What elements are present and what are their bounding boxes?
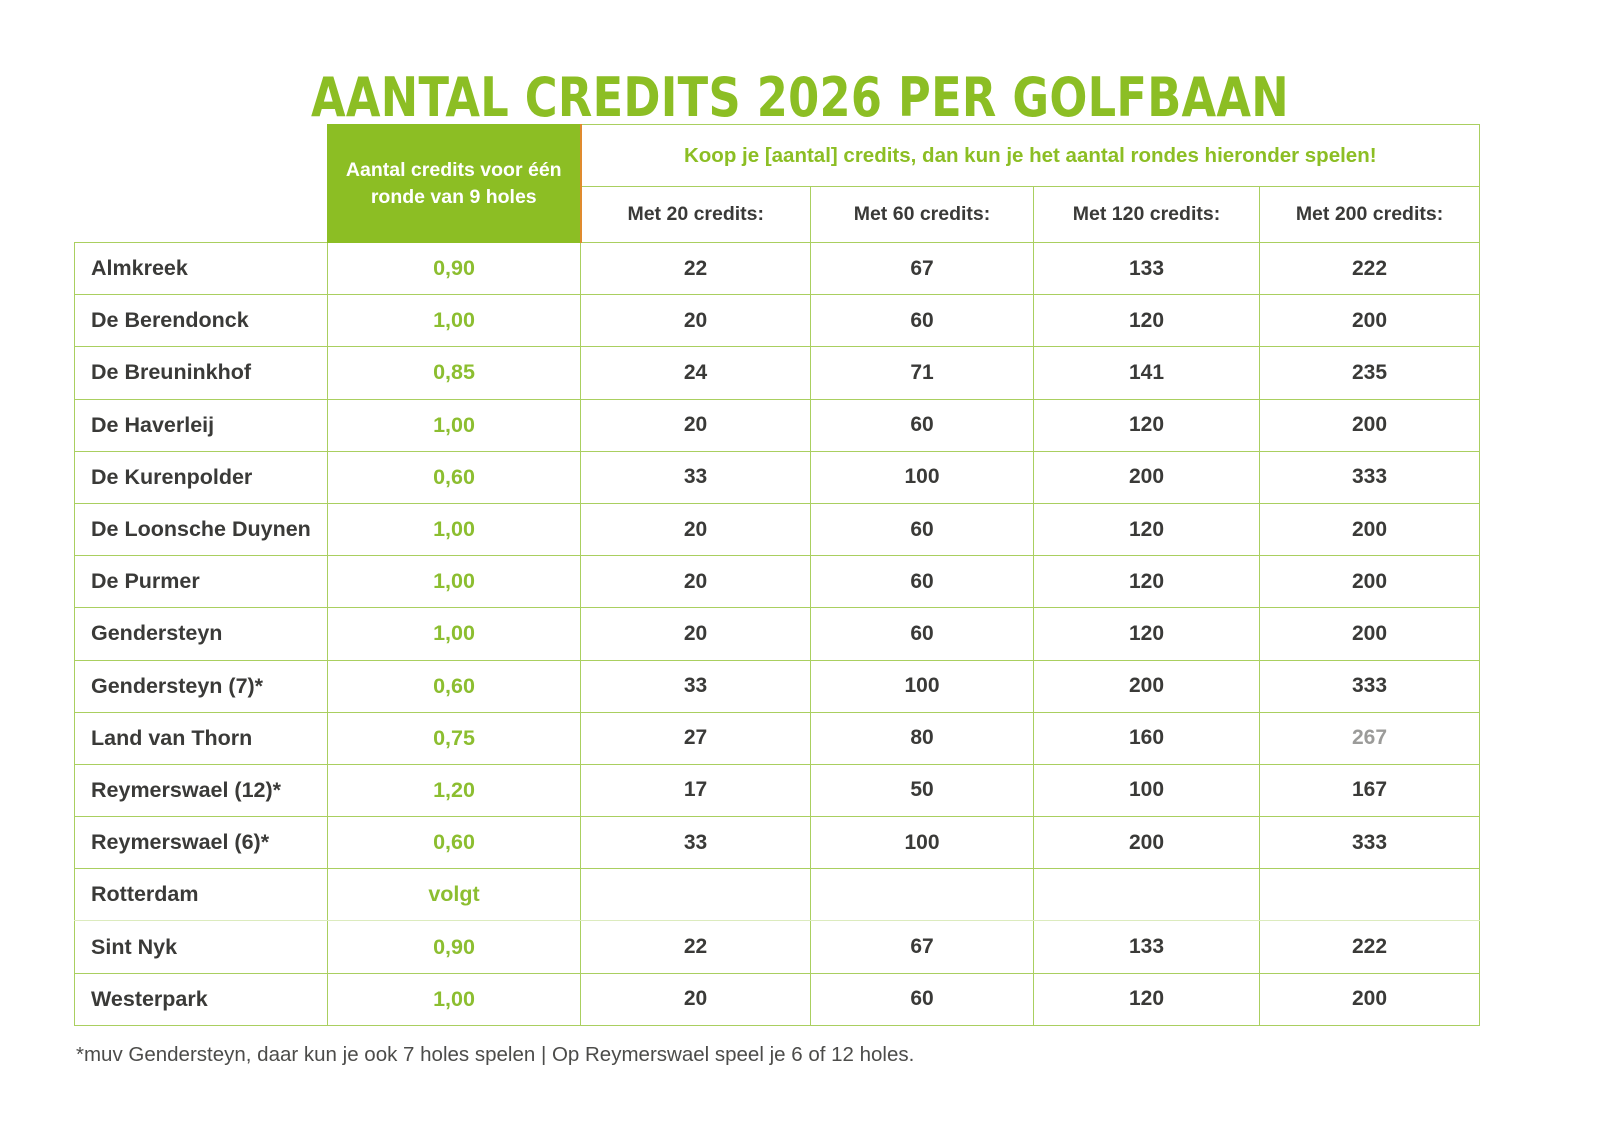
rounds-met-20-cell: 20 <box>581 556 811 608</box>
header-col-met-120: Met 120 credits: <box>1034 187 1260 243</box>
credits-table: Aantal credits voor één ronde van 9 hole… <box>74 124 1480 1026</box>
rounds-met-200-cell <box>1260 869 1480 921</box>
rounds-met-200-cell: 200 <box>1260 608 1480 660</box>
rounds-met-20-cell: 20 <box>581 399 811 451</box>
table-row: Reymerswael (12)*1,201750100167 <box>75 764 1480 816</box>
course-name-cell: De Loonsche Duynen <box>75 503 328 555</box>
rounds-met-60-cell: 60 <box>811 608 1034 660</box>
credits-per-round-cell: 1,20 <box>328 764 581 816</box>
rounds-met-20-cell: 17 <box>581 764 811 816</box>
credits-per-round-cell: volgt <box>328 869 581 921</box>
rounds-met-200-cell: 167 <box>1260 764 1480 816</box>
table-row: Reymerswael (6)*0,6033100200333 <box>75 817 1480 869</box>
course-name-cell: Gendersteyn (7)* <box>75 660 328 712</box>
rounds-met-120-cell: 133 <box>1034 243 1260 295</box>
rounds-met-20-cell: 22 <box>581 921 811 973</box>
header-span-label: Koop je [aantal] credits, dan kun je het… <box>581 125 1480 187</box>
rounds-met-120-cell: 200 <box>1034 817 1260 869</box>
rounds-met-60-cell: 80 <box>811 712 1034 764</box>
table-row: Sint Nyk0,902267133222 <box>75 921 1480 973</box>
rounds-met-120-cell: 120 <box>1034 503 1260 555</box>
rounds-met-120-cell: 120 <box>1034 556 1260 608</box>
rounds-met-20-cell: 22 <box>581 243 811 295</box>
rounds-met-200-cell: 200 <box>1260 295 1480 347</box>
credits-per-round-cell: 0,60 <box>328 660 581 712</box>
rounds-met-200-cell: 267 <box>1260 712 1480 764</box>
rounds-met-200-cell: 200 <box>1260 503 1480 555</box>
rounds-met-200-cell: 200 <box>1260 556 1480 608</box>
credits-per-round-cell: 1,00 <box>328 608 581 660</box>
course-name-cell: De Purmer <box>75 556 328 608</box>
rounds-met-20-cell: 33 <box>581 660 811 712</box>
table-header: Aantal credits voor één ronde van 9 hole… <box>75 125 1480 243</box>
rounds-met-120-cell: 141 <box>1034 347 1260 399</box>
rounds-met-60-cell: 100 <box>811 817 1034 869</box>
credits-per-round-cell: 1,00 <box>328 399 581 451</box>
header-corner-blank <box>75 125 328 243</box>
rounds-met-60-cell <box>811 869 1034 921</box>
course-name-cell: Westerpark <box>75 973 328 1025</box>
rounds-met-200-cell: 333 <box>1260 817 1480 869</box>
rounds-met-60-cell: 60 <box>811 503 1034 555</box>
course-name-cell: Reymerswael (12)* <box>75 764 328 816</box>
credits-per-round-cell: 0,90 <box>328 243 581 295</box>
table-row: Westerpark1,002060120200 <box>75 973 1480 1025</box>
credits-per-round-cell: 1,00 <box>328 973 581 1025</box>
course-name-cell: De Berendonck <box>75 295 328 347</box>
rounds-met-60-cell: 50 <box>811 764 1034 816</box>
rounds-met-120-cell: 120 <box>1034 399 1260 451</box>
table-row: De Haverleij1,002060120200 <box>75 399 1480 451</box>
rounds-met-60-cell: 71 <box>811 347 1034 399</box>
credits-per-round-cell: 1,00 <box>328 556 581 608</box>
rounds-met-120-cell: 120 <box>1034 973 1260 1025</box>
credits-per-round-cell: 1,00 <box>328 295 581 347</box>
rounds-met-200-cell: 222 <box>1260 921 1480 973</box>
rounds-met-20-cell: 20 <box>581 503 811 555</box>
rounds-met-200-cell: 200 <box>1260 399 1480 451</box>
rounds-met-120-cell: 133 <box>1034 921 1260 973</box>
header-col-met-60: Met 60 credits: <box>811 187 1034 243</box>
table-row: De Berendonck1,002060120200 <box>75 295 1480 347</box>
table-body: Almkreek0,902267133222De Berendonck1,002… <box>75 243 1480 1026</box>
credits-per-round-cell: 0,90 <box>328 921 581 973</box>
credits-per-round-cell: 1,00 <box>328 503 581 555</box>
course-name-cell: De Haverleij <box>75 399 328 451</box>
rounds-met-200-cell: 333 <box>1260 660 1480 712</box>
rounds-met-20-cell <box>581 869 811 921</box>
rounds-met-20-cell: 27 <box>581 712 811 764</box>
rounds-met-60-cell: 67 <box>811 243 1034 295</box>
rounds-met-60-cell: 60 <box>811 973 1034 1025</box>
rounds-met-20-cell: 33 <box>581 451 811 503</box>
rounds-met-60-cell: 60 <box>811 295 1034 347</box>
course-name-cell: Rotterdam <box>75 869 328 921</box>
course-name-cell: Sint Nyk <box>75 921 328 973</box>
rounds-met-20-cell: 20 <box>581 295 811 347</box>
header-credits-per-round: Aantal credits voor één ronde van 9 hole… <box>328 125 581 243</box>
table-row: Rotterdamvolgt <box>75 869 1480 921</box>
rounds-met-120-cell: 120 <box>1034 608 1260 660</box>
credits-per-round-cell: 0,60 <box>328 817 581 869</box>
rounds-met-120-cell <box>1034 869 1260 921</box>
rounds-met-200-cell: 222 <box>1260 243 1480 295</box>
credits-per-round-cell: 0,75 <box>328 712 581 764</box>
rounds-met-200-cell: 235 <box>1260 347 1480 399</box>
rounds-met-120-cell: 120 <box>1034 295 1260 347</box>
header-col-met-20: Met 20 credits: <box>581 187 811 243</box>
rounds-met-120-cell: 100 <box>1034 764 1260 816</box>
rounds-met-200-cell: 200 <box>1260 973 1480 1025</box>
table-row: Gendersteyn1,002060120200 <box>75 608 1480 660</box>
header-row-top: Aantal credits voor één ronde van 9 hole… <box>75 125 1480 187</box>
page-title: AANTAL CREDITS 2026 PER GOLFBAAN <box>64 66 1536 130</box>
table-row: Almkreek0,902267133222 <box>75 243 1480 295</box>
credits-per-round-cell: 0,60 <box>328 451 581 503</box>
rounds-met-20-cell: 20 <box>581 608 811 660</box>
rounds-met-60-cell: 60 <box>811 399 1034 451</box>
rounds-met-20-cell: 33 <box>581 817 811 869</box>
course-name-cell: Gendersteyn <box>75 608 328 660</box>
table-row: De Kurenpolder0,6033100200333 <box>75 451 1480 503</box>
credits-per-round-cell: 0,85 <box>328 347 581 399</box>
table-row: Land van Thorn0,752780160267 <box>75 712 1480 764</box>
footnote-text: *muv Gendersteyn, daar kun je ook 7 hole… <box>76 1043 914 1067</box>
rounds-met-60-cell: 100 <box>811 660 1034 712</box>
course-name-cell: Land van Thorn <box>75 712 328 764</box>
rounds-met-60-cell: 100 <box>811 451 1034 503</box>
table-row: De Breuninkhof0,852471141235 <box>75 347 1480 399</box>
header-col-met-200: Met 200 credits: <box>1260 187 1480 243</box>
course-name-cell: De Kurenpolder <box>75 451 328 503</box>
rounds-met-20-cell: 24 <box>581 347 811 399</box>
rounds-met-120-cell: 200 <box>1034 451 1260 503</box>
course-name-cell: De Breuninkhof <box>75 347 328 399</box>
table-row: De Loonsche Duynen1,002060120200 <box>75 503 1480 555</box>
rounds-met-200-cell: 333 <box>1260 451 1480 503</box>
rounds-met-120-cell: 160 <box>1034 712 1260 764</box>
rounds-met-60-cell: 60 <box>811 556 1034 608</box>
rounds-met-120-cell: 200 <box>1034 660 1260 712</box>
page-root: AANTAL CREDITS 2026 PER GOLFBAAN Aantal … <box>0 0 1600 1128</box>
course-name-cell: Reymerswael (6)* <box>75 817 328 869</box>
course-name-cell: Almkreek <box>75 243 328 295</box>
table-row: De Purmer1,002060120200 <box>75 556 1480 608</box>
credits-table-container: Aantal credits voor één ronde van 9 hole… <box>74 124 1479 1026</box>
rounds-met-20-cell: 20 <box>581 973 811 1025</box>
table-row: Gendersteyn (7)*0,6033100200333 <box>75 660 1480 712</box>
rounds-met-60-cell: 67 <box>811 921 1034 973</box>
